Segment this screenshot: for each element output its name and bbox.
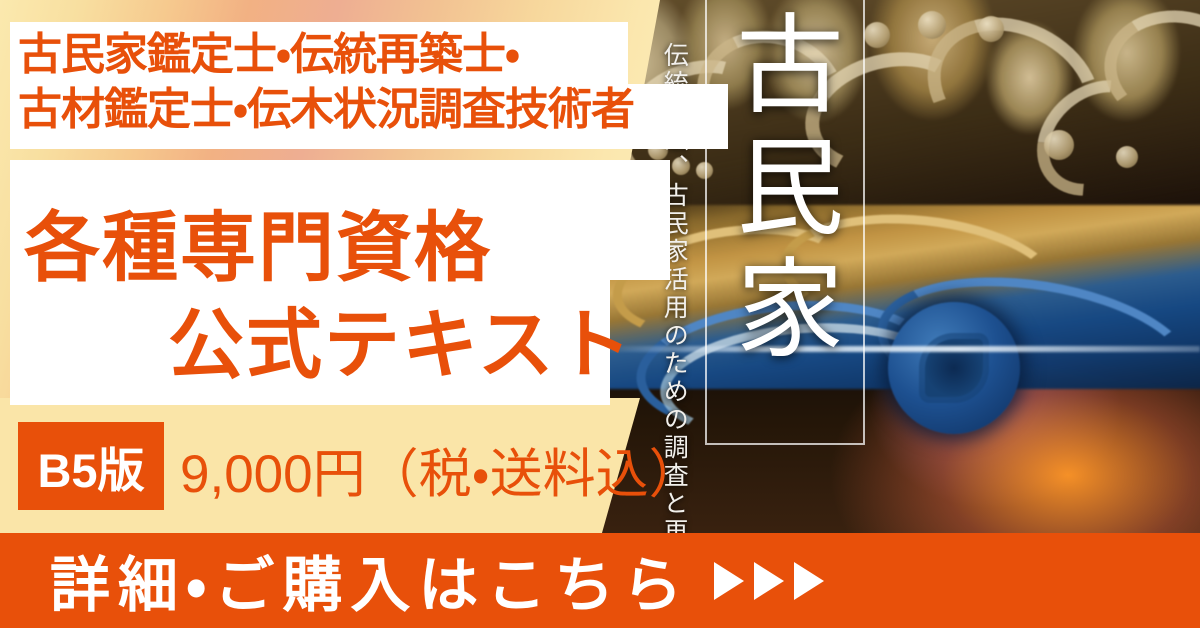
carving-bead [918, 11, 946, 39]
format-badge-b5: B5版 [18, 422, 164, 510]
cta-bar[interactable]: 詳細・ご購入はこちら [0, 533, 1200, 628]
title-line-1: 各種専門資格 [24, 186, 492, 296]
headline: 古民家鑑定士・伝統再築士・ 古材鑑定士・伝木状況調査技術者 [18, 26, 634, 136]
play-arrow-icon [754, 562, 784, 600]
carving-bead [1044, 130, 1074, 160]
price-text: 9,000円（税・送料込） [180, 432, 702, 508]
cover-title-vertical: 古民家 [743, 8, 843, 374]
headline-line-2: 古材鑑定士・伝木状況調査技術者 [18, 81, 634, 136]
carving-bead [1116, 146, 1138, 168]
cta-arrows [714, 562, 824, 600]
play-arrow-icon [714, 562, 744, 600]
carving-bead [978, 16, 1004, 42]
family-crest-medallion [888, 302, 1020, 434]
title-line-2: 公式テキスト [168, 283, 634, 393]
cta-label: 詳細・ご購入はこちら [50, 537, 690, 624]
horizon-glow-line [600, 346, 1200, 352]
carving-bead [864, 22, 890, 48]
headline-line-1: 古民家鑑定士・伝統再築士・ [18, 26, 634, 81]
promo-banner: 古民家 伝統構法、古民家活用のための調査と再生の 古民家鑑定士・伝統再築士・ 古… [0, 0, 1200, 628]
play-arrow-icon [794, 562, 824, 600]
